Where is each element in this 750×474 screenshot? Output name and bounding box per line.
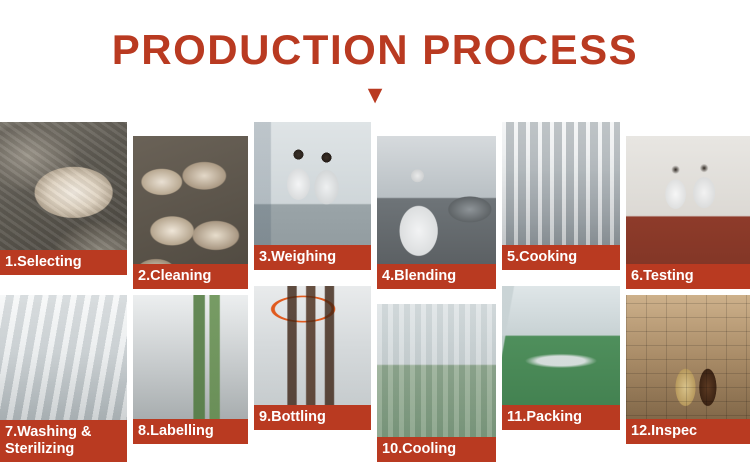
step-caption-9: 9.Bottling (254, 405, 371, 430)
chevron-down-icon: ▼ (0, 86, 750, 105)
step-caption-4: 4.Blending (377, 264, 496, 289)
step-caption-3: 3.Weighing (254, 245, 371, 270)
step-caption-1: 1.Selecting (0, 250, 127, 275)
step-card-8[interactable]: 8.Labelling (133, 295, 248, 444)
step-card-4[interactable]: 4.Blending (377, 136, 496, 289)
step-caption-2: 2.Cleaning (133, 264, 248, 289)
page-title: PRODUCTION PROCESS (0, 26, 750, 74)
step-card-10[interactable]: 10.Cooling (377, 304, 496, 462)
step-card-9[interactable]: 9.Bottling (254, 286, 371, 430)
step-caption-5: 5.Cooking (502, 245, 620, 270)
step-card-6[interactable]: 6.Testing (626, 136, 750, 289)
step-card-1[interactable]: 1.Selecting (0, 122, 127, 275)
step-card-5[interactable]: 5.Cooking (502, 122, 620, 270)
production-process-poster: PRODUCTION PROCESS ▼ 1.Selecting 2.Clean… (0, 0, 750, 474)
step-caption-6: 6.Testing (626, 264, 750, 289)
step-card-11[interactable]: 11.Packing (502, 286, 620, 430)
step-caption-8: 8.Labelling (133, 419, 248, 444)
step-card-12[interactable]: 12.Inspec (626, 295, 750, 444)
step-caption-11: 11.Packing (502, 405, 620, 430)
step-card-7[interactable]: 7.Washing & Sterilizing (0, 295, 127, 462)
step-caption-10: 10.Cooling (377, 437, 496, 462)
step-caption-12: 12.Inspec (626, 419, 750, 444)
process-steps-grid: 1.Selecting 2.Cleaning 3.Weighing 4.Blen… (0, 122, 750, 462)
step-card-2[interactable]: 2.Cleaning (133, 136, 248, 289)
step-caption-7: 7.Washing & Sterilizing (0, 420, 127, 462)
step-card-3[interactable]: 3.Weighing (254, 122, 371, 270)
